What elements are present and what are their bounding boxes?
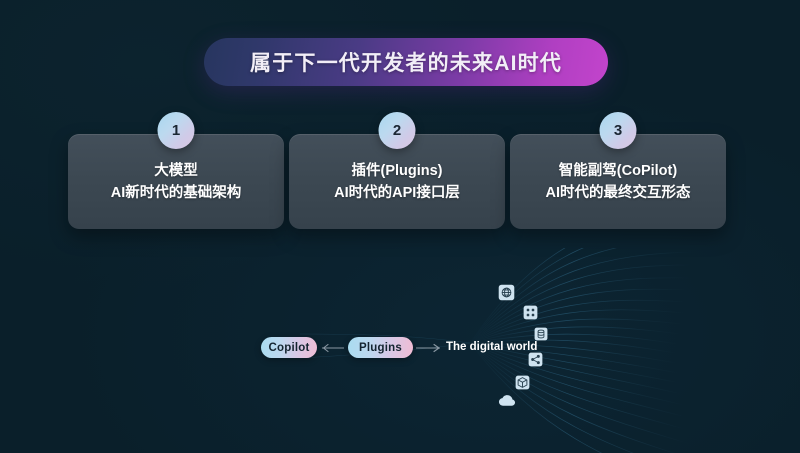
diagram-node-copilot-label: Copilot xyxy=(269,342,310,354)
grid-icon xyxy=(523,305,538,320)
concept-card-3: 3 智能副驾(CoPilot) AI时代的最终交互形态 xyxy=(510,134,726,229)
concept-card-2: 2 插件(Plugins) AI时代的API接口层 xyxy=(289,134,505,229)
concept-card-1: 1 大模型 AI新时代的基础架构 xyxy=(68,134,284,229)
cube-icon xyxy=(515,375,530,390)
card-badge-number-1: 1 xyxy=(172,122,180,139)
page-title: 属于下一代开发者的未来AI时代 xyxy=(250,47,562,77)
diagram-node-copilot[interactable]: Copilot xyxy=(261,337,317,358)
diagram-node-plugins[interactable]: Plugins xyxy=(348,337,413,358)
card-subtitle-1: AI新时代的基础架构 xyxy=(111,182,242,204)
card-badge-number-2: 2 xyxy=(393,122,401,139)
share-nodes-icon xyxy=(528,352,543,367)
card-badge-2: 2 xyxy=(379,112,416,149)
card-title-3: 智能副驾(CoPilot) xyxy=(559,160,677,182)
card-badge-1: 1 xyxy=(158,112,195,149)
card-badge-number-3: 3 xyxy=(614,122,622,139)
cloud-icon xyxy=(498,394,516,407)
card-title-2: 插件(Plugins) xyxy=(351,160,442,182)
card-badge-3: 3 xyxy=(600,112,637,149)
database-icon xyxy=(534,327,548,341)
card-title-1: 大模型 xyxy=(154,160,198,182)
card-subtitle-2: AI时代的API接口层 xyxy=(334,182,460,204)
diagram-node-plugins-label: Plugins xyxy=(359,342,402,354)
presentation-slide: 属于下一代开发者的未来AI时代 1 大模型 AI新时代的基础架构 2 插件(Pl… xyxy=(0,0,800,453)
diagram-destination-label: The digital world xyxy=(446,341,537,353)
globe-icon xyxy=(498,284,515,301)
card-subtitle-3: AI时代的最终交互形态 xyxy=(546,182,691,204)
slide-title-banner: 属于下一代开发者的未来AI时代 xyxy=(204,38,608,86)
